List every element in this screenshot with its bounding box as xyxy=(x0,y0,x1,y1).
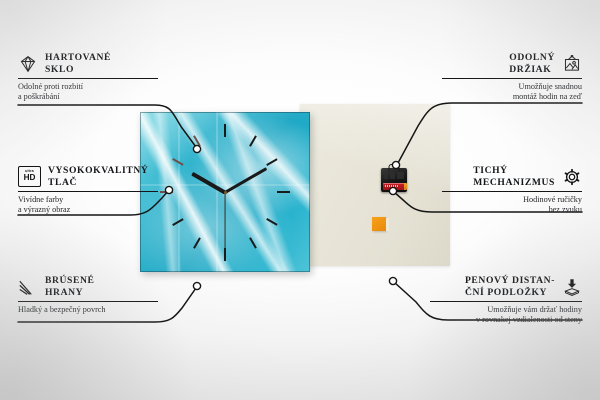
divider xyxy=(442,78,582,79)
gear-icon xyxy=(562,168,582,186)
divider xyxy=(18,191,158,192)
feature-callout-tempered-glass: HARTOVANÉ SKLO Odolné proti rozbití a po… xyxy=(18,52,158,103)
divider xyxy=(18,301,158,302)
divider xyxy=(442,191,582,192)
divider xyxy=(430,301,582,302)
feature-description: Odolné proti rozbití a poškrábání xyxy=(18,82,158,103)
diamond-icon xyxy=(18,55,38,73)
movement-hanger-icon xyxy=(389,164,400,171)
movement-slots xyxy=(384,172,404,179)
battery-label xyxy=(385,185,399,187)
clock-back-panel xyxy=(300,104,450,266)
feature-title: ODOLNÝ DRŽIAK xyxy=(509,52,555,75)
feature-title: BRÚSENÉ HRANY xyxy=(45,275,95,298)
feature-description: Hodinové ručičky bez zvuku xyxy=(442,195,582,216)
product-photo-group xyxy=(140,100,460,280)
feature-callout-high-quality-print: ultra HD VYSOKOKVALITNÝ TLAČ Vivídne far… xyxy=(18,165,158,216)
badge-main-text: HD xyxy=(24,174,36,182)
feature-description: Hladký a bezpečný povrch xyxy=(18,305,158,316)
foam-pad-stamp-icon xyxy=(562,278,582,296)
feature-callout-ground-edges: BRÚSENÉ HRANY Hladký a bezpečný povrch xyxy=(18,275,158,315)
infographic-canvas: HARTOVANÉ SKLO Odolné proti rozbití a po… xyxy=(0,0,600,400)
connector-node xyxy=(193,282,200,289)
aa-battery xyxy=(383,183,405,190)
feature-title: PENOVÝ DISTAN- ČNÍ PODLOŽKY xyxy=(465,275,555,298)
foam-distance-pad xyxy=(372,217,386,231)
feature-title: TICHÝ MECHANIZMUS xyxy=(473,165,555,188)
feature-callout-durable-hanger: ODOLNÝ DRŽIAK Umožňuje snadnou montáž ho… xyxy=(442,52,582,103)
feature-description: Vivídne farby a výrazný obraz xyxy=(18,195,158,216)
feature-callout-foam-spacers: PENOVÝ DISTAN- ČNÍ PODLOŽKY Umožňuje vám… xyxy=(430,275,582,326)
feature-callout-silent-mechanism: TICHÝ MECHANIZMUS Hodinové ručičky bez z… xyxy=(442,165,582,216)
glass-clock-face xyxy=(140,112,310,272)
clock-movement xyxy=(381,168,407,192)
battery-positive-terminal xyxy=(404,183,407,190)
feature-description: Umožňuje vám držať hodiny v rovnakej vzd… xyxy=(430,305,582,326)
ground-edges-icon xyxy=(18,278,38,296)
feature-description: Umožňuje snadnou montáž hodin na zeď xyxy=(442,82,582,103)
feature-title: VYSOKOKVALITNÝ TLAČ xyxy=(48,165,148,188)
wall-picture-hanger-icon xyxy=(562,55,582,73)
ultra-hd-badge-icon: ultra HD xyxy=(18,166,41,187)
divider xyxy=(18,78,158,79)
feature-title: HARTOVANÉ SKLO xyxy=(45,52,111,75)
